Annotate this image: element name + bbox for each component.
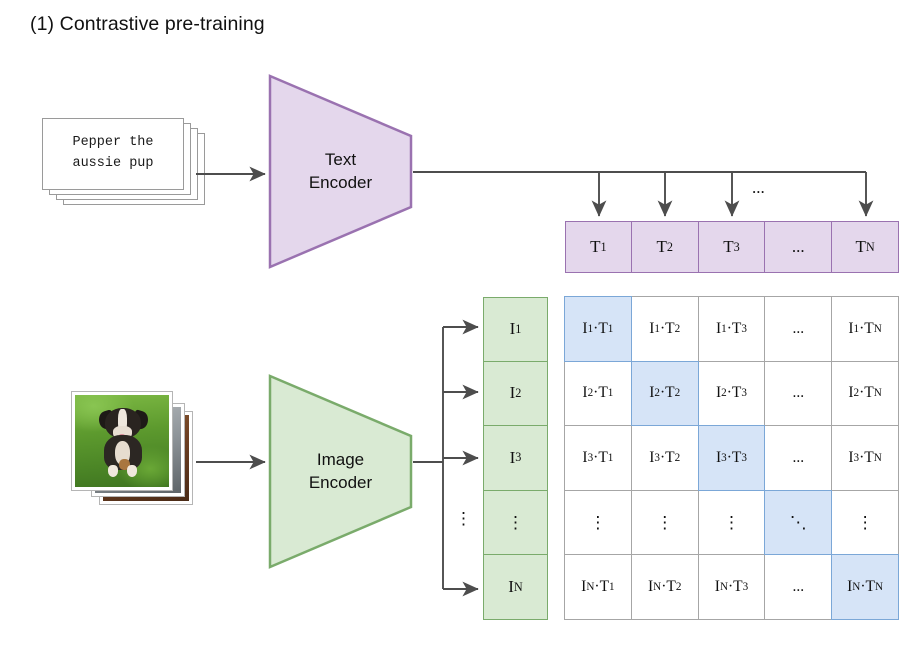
image-embedding-column: I1I2I3⋮IN (483, 297, 548, 620)
subscript: 2 (654, 387, 660, 399)
image-embedding-cell-5: IN (483, 554, 548, 620)
similarity-cell-r4-c3: ⋮ (698, 490, 766, 556)
subscript: N (514, 580, 523, 595)
i-trunk-ellipsis: ⋮ (455, 509, 472, 529)
subscript: 2 (721, 387, 727, 399)
subscript: 1 (608, 452, 614, 464)
text-embedding-cell-1: T1 (565, 221, 632, 273)
subscript: 1 (721, 323, 727, 335)
similarity-cell-r2-c3: I2·T3 (698, 361, 766, 427)
text-embedding-cell-5: TN (831, 221, 899, 273)
subscript: N (874, 387, 882, 399)
similarity-cell-r5-c4: ... (764, 554, 832, 620)
similarity-cell-r2-c5: I2·TN (831, 361, 899, 427)
subscript: 1 (608, 323, 614, 335)
subscript: 3 (743, 581, 749, 593)
subscript: N (866, 240, 875, 255)
image-embedding-cell-4: ⋮ (483, 490, 548, 556)
similarity-cell-r2-c1: I2·T1 (564, 361, 632, 427)
similarity-cell-r5-c2: IN·T2 (631, 554, 699, 620)
similarity-cell-r2-c2: I2·T2 (631, 361, 699, 427)
text-embedding-cell-4: ... (764, 221, 832, 273)
subscript: 3 (741, 387, 747, 399)
t-row-ellipsis: ... (752, 178, 765, 198)
similarity-cell-r1-c5: I1·TN (831, 296, 899, 362)
subscript: 3 (654, 452, 660, 464)
subscript: 2 (675, 323, 681, 335)
similarity-cell-r5-c1: IN·T1 (564, 554, 632, 620)
similarity-cell-r1-c1: I1·T1 (564, 296, 632, 362)
similarity-cell-r1-c4: ... (764, 296, 832, 362)
subscript: 2 (667, 240, 673, 255)
similarity-cell-r1-c2: I1·T2 (631, 296, 699, 362)
subscript: 3 (588, 452, 594, 464)
subscript: N (720, 581, 728, 593)
subscript: 1 (854, 323, 860, 335)
similarity-cell-r3-c5: I3·TN (831, 425, 899, 491)
similarity-cell-r4-c4: ⋱ (764, 490, 832, 556)
subscript: 1 (588, 323, 594, 335)
subscript: 1 (515, 322, 521, 337)
subscript: 1 (609, 581, 615, 593)
clip-contrastive-pretraining-diagram: (1) Contrastive pre-training Pepper the … (0, 0, 906, 654)
subscript: 3 (721, 452, 727, 464)
similarity-cell-r4-c5: ⋮ (831, 490, 899, 556)
subscript: 2 (675, 387, 681, 399)
similarity-cell-r5-c5: IN·TN (831, 554, 899, 620)
similarity-cell-r1-c3: I1·T3 (698, 296, 766, 362)
image-embedding-cell-1: I1 (483, 297, 548, 362)
image-embedding-cell-3: I3 (483, 425, 548, 491)
subscript: N (875, 581, 883, 593)
text-embedding-row: T1T2T3...TN (565, 221, 899, 273)
text-embedding-cell-2: T2 (631, 221, 699, 273)
subscript: N (586, 581, 594, 593)
similarity-cell-r3-c1: I3·T1 (564, 425, 632, 491)
subscript: N (653, 581, 661, 593)
subscript: 3 (741, 452, 747, 464)
similarity-cell-r2-c4: ... (764, 361, 832, 427)
subscript: 1 (601, 240, 607, 255)
subscript: 2 (588, 387, 594, 399)
subscript: 3 (515, 450, 521, 465)
similarity-cell-r3-c3: I3·T3 (698, 425, 766, 491)
similarity-cell-r5-c3: IN·T3 (698, 554, 766, 620)
similarity-matrix: I1·T1I1·T2I1·T3...I1·TNI2·T1I2·T2I2·T3..… (565, 297, 899, 620)
similarity-cell-r4-c1: ⋮ (564, 490, 632, 556)
subscript: N (852, 581, 860, 593)
subscript: 3 (741, 323, 747, 335)
subscript: 1 (654, 323, 660, 335)
image-embedding-cell-2: I2 (483, 361, 548, 427)
subscript: 3 (734, 240, 740, 255)
subscript: N (874, 323, 882, 335)
subscript: 1 (608, 387, 614, 399)
subscript: 2 (676, 581, 682, 593)
subscript: 2 (854, 387, 860, 399)
similarity-cell-r3-c4: ... (764, 425, 832, 491)
subscript: 2 (515, 386, 521, 401)
similarity-cell-r3-c2: I3·T2 (631, 425, 699, 491)
subscript: 3 (854, 452, 860, 464)
subscript: N (874, 452, 882, 464)
similarity-cell-r4-c2: ⋮ (631, 490, 699, 556)
text-embedding-cell-3: T3 (698, 221, 766, 273)
subscript: 2 (675, 452, 681, 464)
